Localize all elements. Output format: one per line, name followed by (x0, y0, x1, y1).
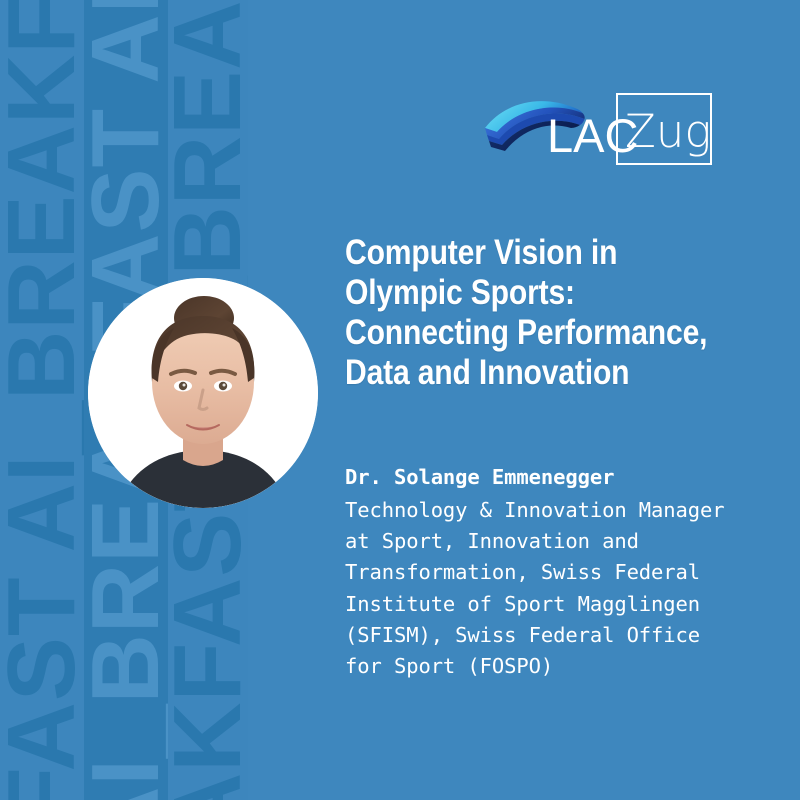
speaker-portrait-avatar (88, 278, 318, 508)
speaker-bio-line-5: (SFISM), Swiss Federal Office (345, 620, 785, 651)
lac-zug-logo: LAC Zug (483, 92, 733, 184)
speaker-bio-line-3: Transformation, Swiss Federal (345, 557, 785, 588)
speaker-bio-line-4: Institute of Sport Magglingen (345, 589, 785, 620)
speaker-bio-line-1: Technology & Innovation Manager (345, 495, 785, 526)
title-line-2: Olympic Sports: (345, 273, 706, 313)
title-line-1: Computer Vision in (345, 233, 706, 273)
pattern-column-1: BREAKFAST AI_BREAKFAST AI_ (0, 0, 84, 800)
speaker-name: Dr. Solange Emmenegger (345, 462, 785, 493)
title-line-3: Connecting Performance, (345, 313, 706, 353)
pattern-text-1: BREAKFAST AI_BREAKFAST AI_ (0, 0, 84, 800)
logo-text-zug: Zug (625, 109, 711, 154)
speaker-bio-line-2: at Sport, Innovation and (345, 526, 785, 557)
event-title: Computer Vision in Olympic Sports: Conne… (345, 233, 706, 393)
speaker-bio: Technology & Innovation Manager at Sport… (345, 495, 785, 682)
title-line-4: Data and Innovation (345, 353, 706, 393)
speaker-info-block: Dr. Solange Emmenegger Technology & Inno… (345, 462, 785, 682)
event-announcement-poster: BREAKFAST AI_BREAKFAST AI_ AST AI_BREAKF… (0, 0, 800, 800)
portrait-photo-icon (88, 278, 318, 508)
speaker-bio-line-6: for Sport (FOSPO) (345, 651, 785, 682)
